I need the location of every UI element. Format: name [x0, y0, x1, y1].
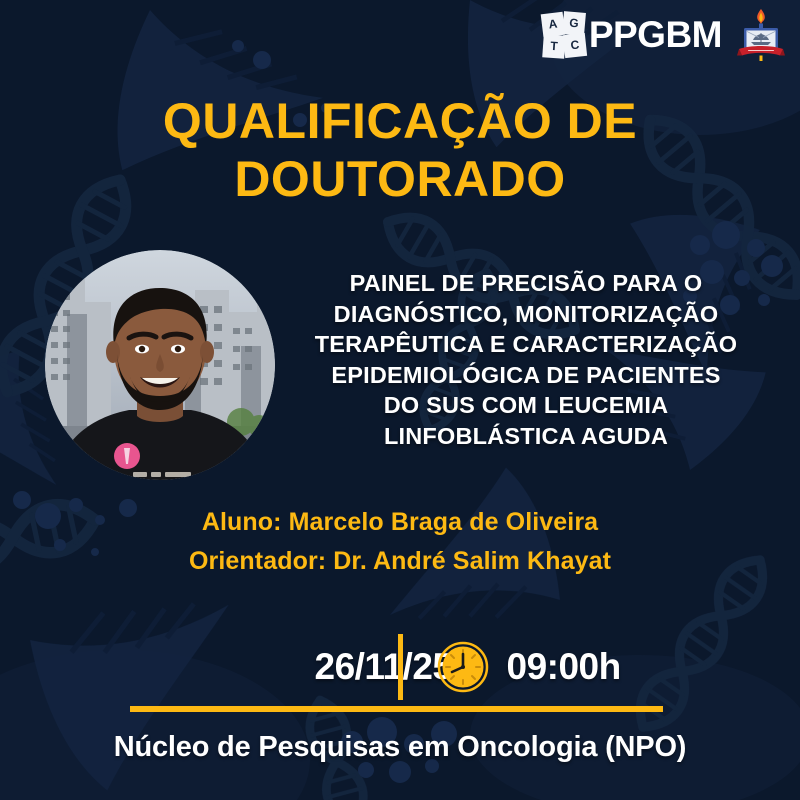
event-time: 09:00h: [507, 646, 621, 688]
header-logos: A G T C PPGBM: [541, 8, 786, 62]
clock-icon: [437, 641, 489, 693]
datetime-divider: [398, 634, 403, 700]
agtc-tiles-icon: A G T C: [541, 12, 587, 58]
ppgbm-acronym: PPGBM: [589, 14, 722, 56]
thesis-line: DIAGNÓSTICO, MONITORIZAÇÃO: [270, 299, 782, 330]
thesis-line: DO SUS COM LEUCEMIA: [270, 390, 782, 421]
thesis-title: PAINEL DE PRECISÃO PARA O DIAGNÓSTICO, M…: [270, 268, 782, 451]
lab-name: Núcleo de Pesquisas em Oncologia (NPO): [0, 731, 800, 764]
title-line-1: QUALIFICAÇÃO DE: [0, 92, 800, 150]
agtc-tile-c: C: [563, 33, 587, 58]
title-line-2: DOUTORADO: [0, 150, 800, 208]
event-datetime: 26/11/25 09:: [0, 627, 800, 707]
thesis-line: PAINEL DE PRECISÃO PARA O: [270, 268, 782, 299]
thesis-line: TERAPÊUTICA E CARACTERIZAÇÃO: [270, 329, 782, 360]
student-name: Aluno: Marcelo Braga de Oliveira: [0, 503, 800, 542]
poster-title: QUALIFICAÇÃO DE DOUTORADO: [0, 92, 800, 208]
student-portrait-photo: [45, 250, 275, 480]
event-time-block: 09:00h: [409, 641, 654, 693]
thesis-line: EPIDEMIOLÓGICA DE PACIENTES: [270, 360, 782, 391]
footer-divider: [130, 706, 663, 712]
poster-root: A G T C PPGBM: [0, 0, 800, 800]
ppgbm-logo: A G T C PPGBM: [541, 12, 722, 58]
advisor-name: Orientador: Dr. André Salim Khayat: [0, 542, 800, 581]
ufpa-crest-icon: [736, 8, 786, 62]
people-block: Aluno: Marcelo Braga de Oliveira Orienta…: [0, 503, 800, 581]
thesis-line: LINFOBLÁSTICA AGUDA: [270, 421, 782, 452]
event-date-block: 26/11/25: [147, 641, 392, 693]
agtc-tile-t: T: [542, 34, 566, 58]
